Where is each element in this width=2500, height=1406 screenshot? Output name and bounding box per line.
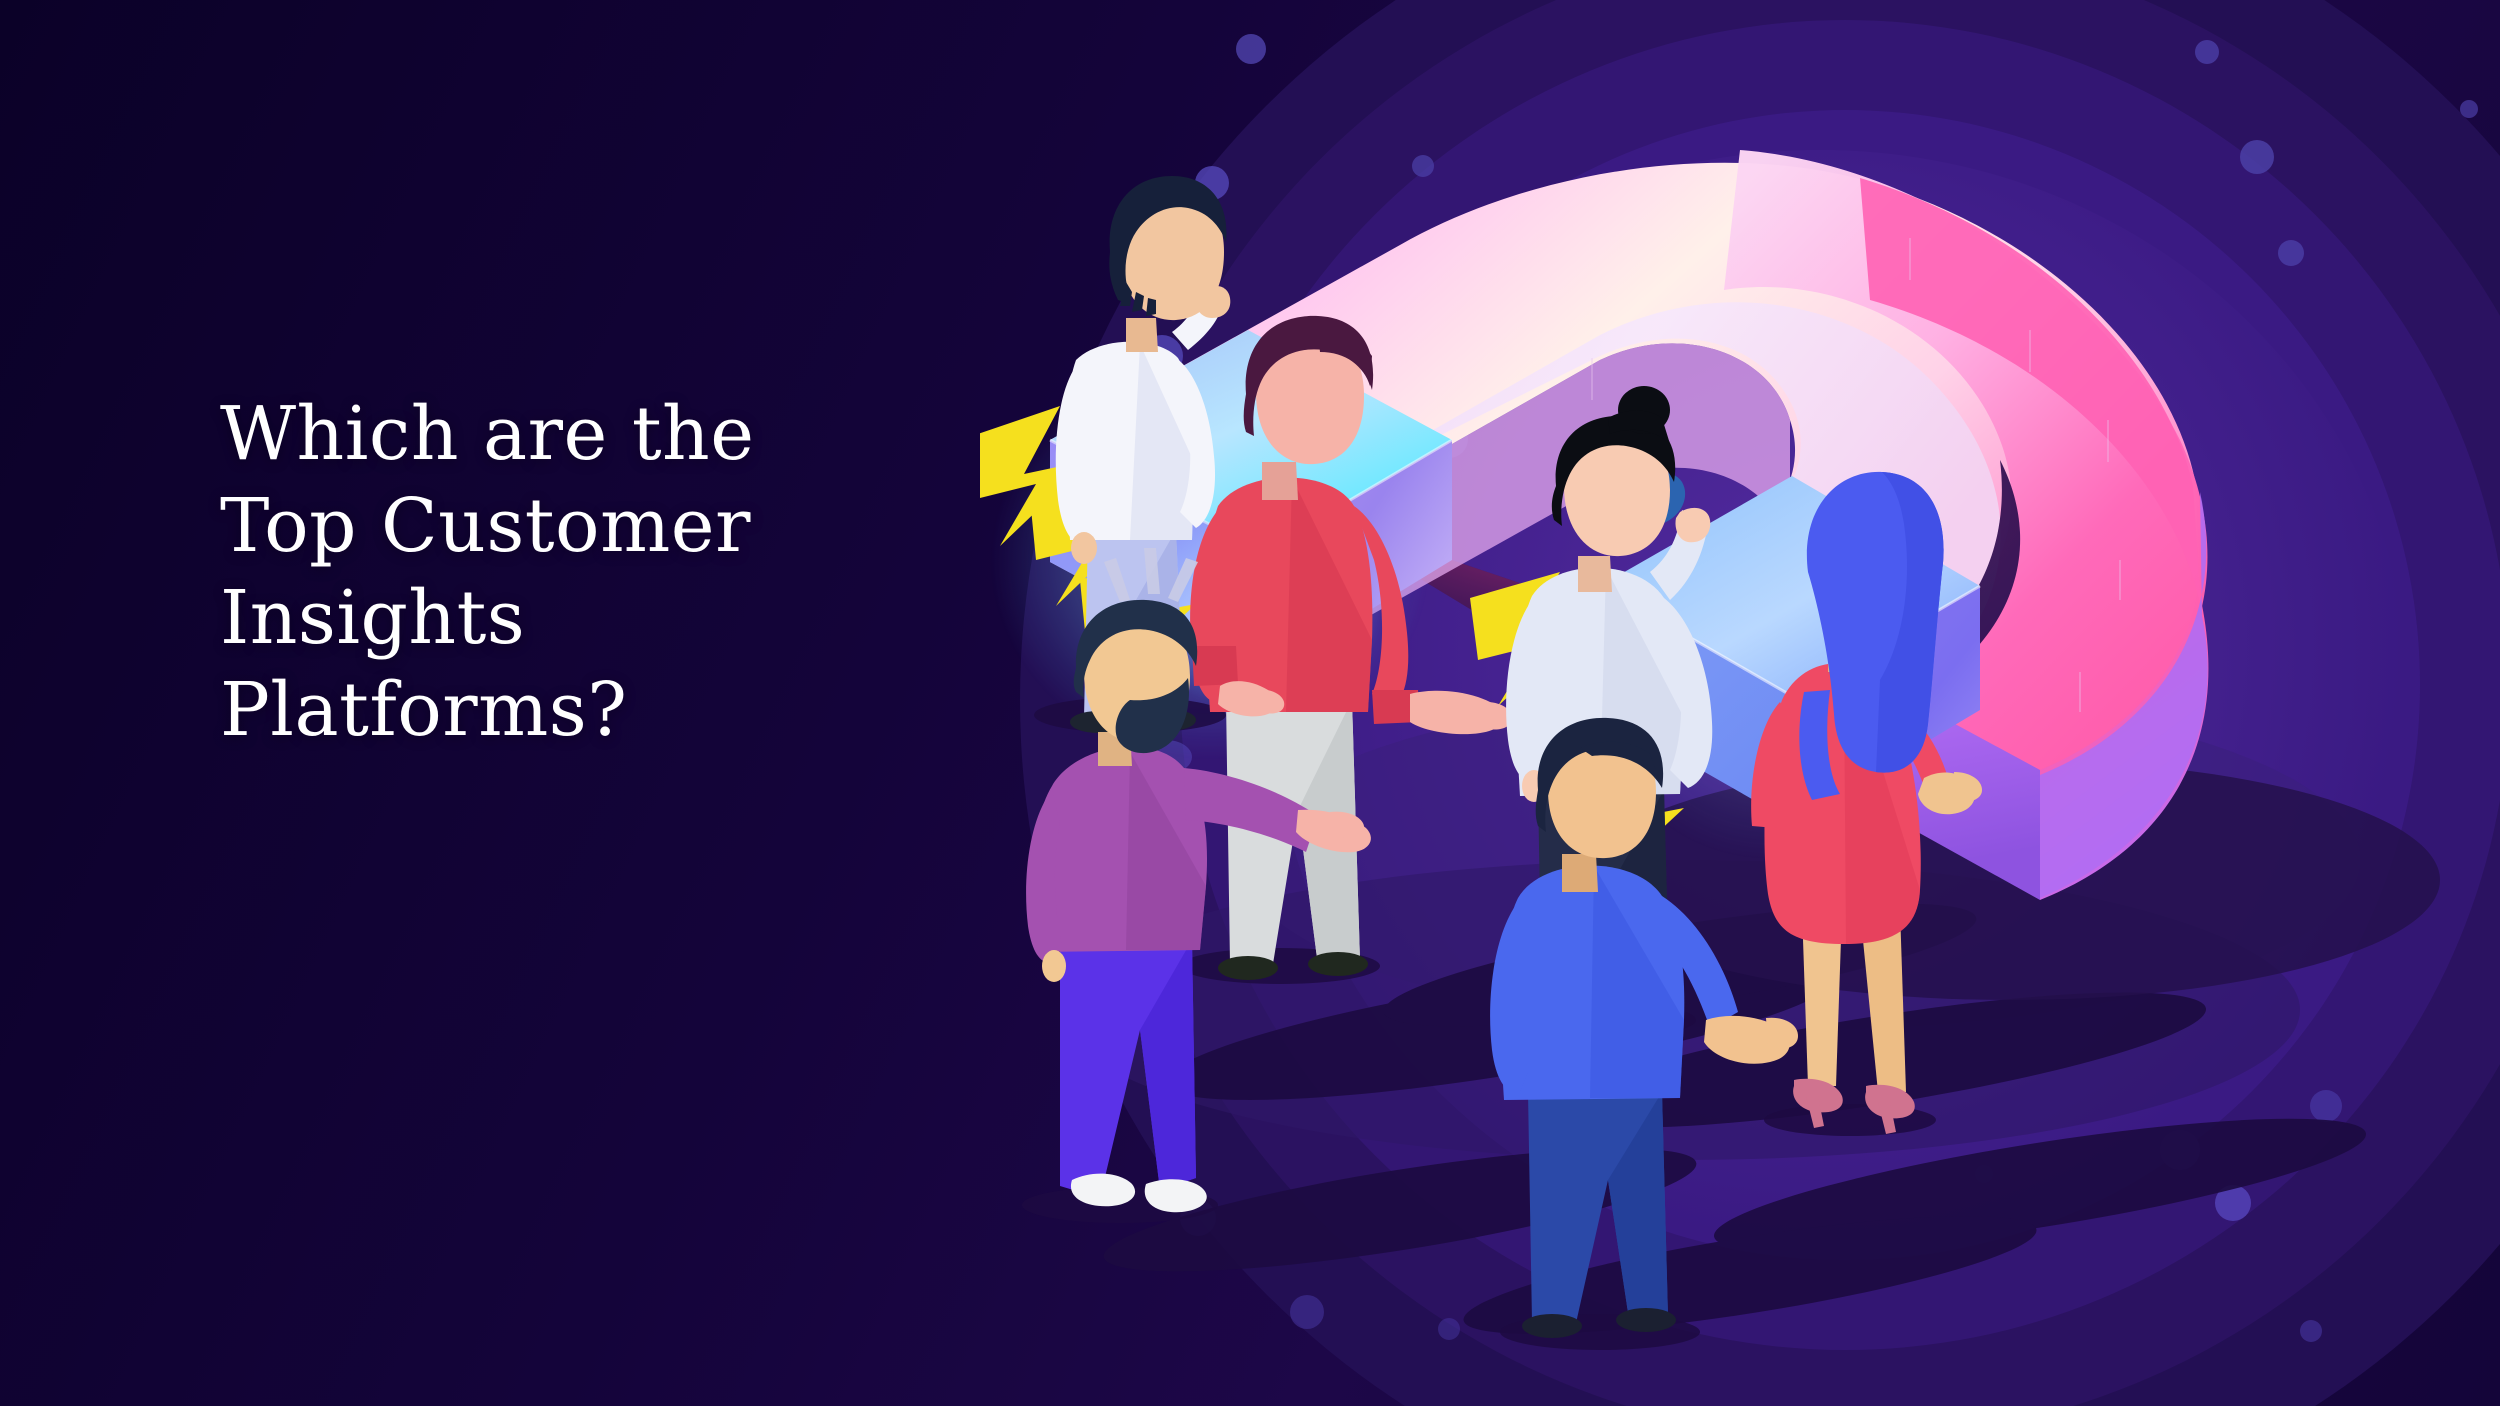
- title-line: Which are the: [220, 388, 1020, 480]
- title-line: Insights: [220, 572, 1020, 664]
- magnet-illustration: [980, 0, 2500, 1406]
- title-line: Platforms?: [220, 664, 1020, 756]
- title-line: Top Customer: [220, 480, 1020, 572]
- page-title: Which are the Top Customer Insights Plat…: [220, 388, 1020, 756]
- slide-canvas: Which are the Top Customer Insights Plat…: [0, 0, 2500, 1406]
